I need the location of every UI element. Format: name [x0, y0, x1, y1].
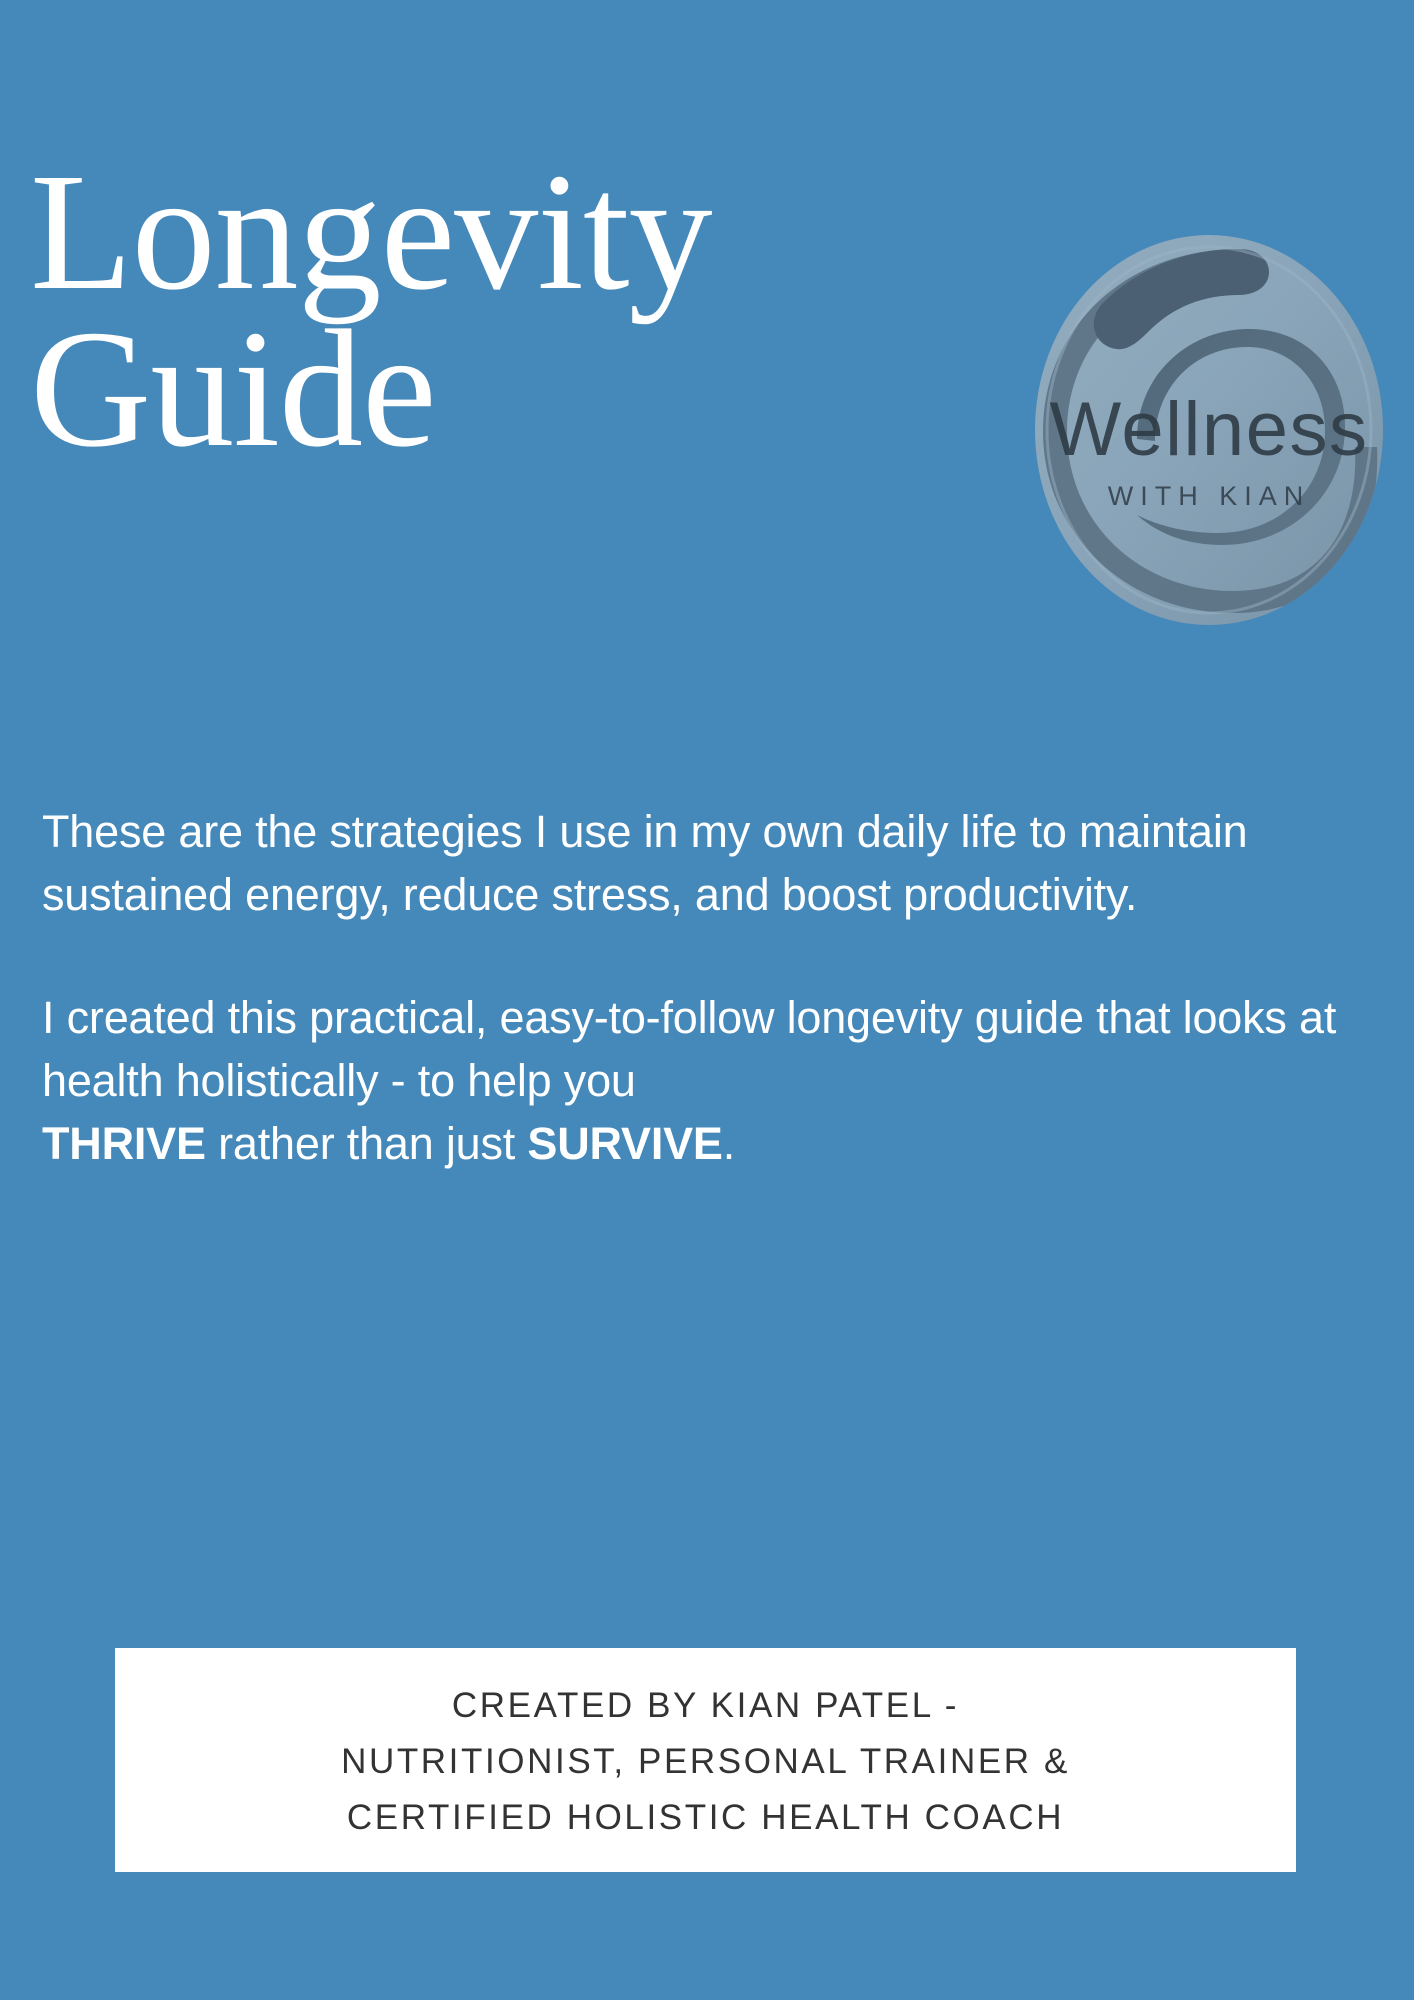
- credit-box: CREATED BY KIAN PATEL - NUTRITIONIST, PE…: [115, 1648, 1296, 1872]
- paragraph-guide-tail: .: [723, 1118, 735, 1169]
- title-line-1: Longevity: [30, 150, 990, 315]
- cover-page: Longevity Guide: [0, 0, 1414, 2000]
- credit-line-3: CERTIFIED HOLISTIC HEALTH COACH: [347, 1790, 1064, 1846]
- title-line-2: Guide: [30, 307, 990, 472]
- body-copy: These are the strategies I use in my own…: [42, 800, 1362, 1175]
- page-title: Longevity Guide: [30, 150, 990, 471]
- paragraph-guide-lead: I created this practical, easy-to-follow…: [42, 992, 1336, 1106]
- paragraph-guide-middle: rather than just: [206, 1118, 528, 1169]
- credit-line-2: NUTRITIONIST, PERSONAL TRAINER &: [341, 1734, 1070, 1790]
- emphasis-thrive: THRIVE: [42, 1118, 206, 1169]
- paragraph-guide: I created this practical, easy-to-follow…: [42, 986, 1362, 1175]
- logo-tagline-text: WITH KIAN: [1108, 481, 1311, 511]
- logo-brand-text: Wellness: [1050, 387, 1369, 472]
- wellness-with-kian-logo: Wellness WITH KIAN: [1033, 233, 1385, 627]
- paragraph-intro: These are the strategies I use in my own…: [42, 800, 1362, 926]
- credit-line-1: CREATED BY KIAN PATEL -: [452, 1678, 959, 1734]
- emphasis-survive: SURVIVE: [527, 1118, 722, 1169]
